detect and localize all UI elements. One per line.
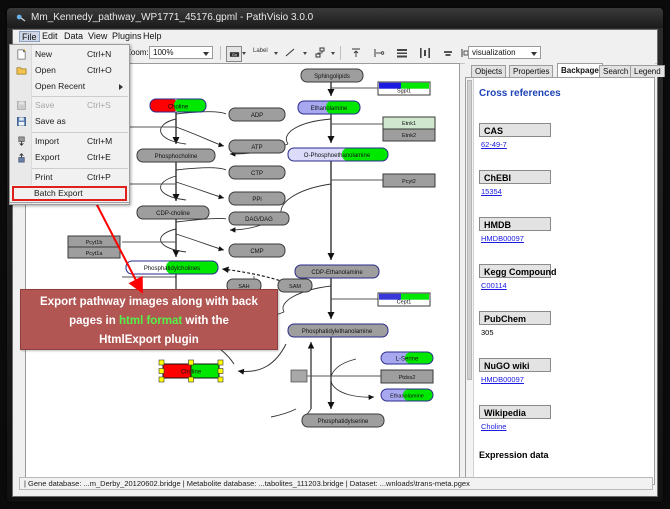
svg-text:Ethanolamine: Ethanolamine <box>311 106 348 112</box>
app-root: Mm_Kennedy_pathway_WP1771_45176.gpml - P… <box>0 0 670 509</box>
toolbar-separator-2 <box>340 46 341 60</box>
file-menu-item-import[interactable]: Import Ctrl+M <box>11 134 130 149</box>
svg-text:Pcyt1a: Pcyt1a <box>86 251 104 257</box>
tab-legend[interactable]: Legend <box>630 65 665 77</box>
svg-text:PPi: PPi <box>252 197 261 203</box>
xref-db-label-hmdb: HMDB <box>479 217 551 231</box>
annotation-line-3: HtmlExport plugin <box>21 331 277 350</box>
node-atp: ATP <box>229 140 285 153</box>
visualization-combobox[interactable]: visualization <box>468 46 541 59</box>
side-panel: Objects Properties Backpage Search Legen… <box>465 63 655 485</box>
svg-text:Choline: Choline <box>181 370 202 376</box>
svg-text:Phosphatidylcholines: Phosphatidylcholines <box>144 266 200 272</box>
file-menu-item-batch-export[interactable]: Batch Export <box>9 185 130 203</box>
save-as-icon <box>16 116 27 127</box>
chevron-down-icon-2 <box>531 52 537 56</box>
svg-text:Sphingolipids: Sphingolipids <box>314 74 350 80</box>
xref-wikipedia: Wikipedia Choline <box>479 405 551 431</box>
svg-text:DAG/DAG: DAG/DAG <box>245 217 273 223</box>
xref-db-label-kegg: Kegg Compound <box>479 264 551 278</box>
xref-value-chebi[interactable]: 15354 <box>479 187 551 196</box>
svg-text:O-Phosphoethanolamine: O-Phosphoethanolamine <box>304 153 371 159</box>
node-phosphatidylcholines: Phosphatidylcholines <box>126 261 218 274</box>
backpage-scrollbar[interactable] <box>466 78 474 484</box>
xref-db-label-chebi: ChEBI <box>479 170 551 184</box>
file-menu-label-batch-export: Batch Export <box>34 188 83 198</box>
svg-text:Etnk1: Etnk1 <box>402 121 416 127</box>
zoom-combobox[interactable]: 100% <box>149 46 213 59</box>
node-adp: ADP <box>229 108 285 121</box>
svg-text:ATP: ATP <box>251 145 262 151</box>
window-title: Mm_Kennedy_pathway_WP1771_45176.gpml - P… <box>31 8 313 28</box>
save-icon <box>16 100 27 111</box>
file-menu-accel-export: Ctrl+E <box>87 152 111 162</box>
pathvisio-icon <box>16 13 26 23</box>
svg-text:Ethanolamine: Ethanolamine <box>390 394 424 400</box>
svg-text:Pcyt2: Pcyt2 <box>402 179 416 185</box>
node-ctp: CTP <box>229 166 285 179</box>
annotation-line-2: pages in html format with the <box>21 312 277 331</box>
svg-text:Phosphatidylethanolamine: Phosphatidylethanolamine <box>302 329 373 335</box>
menu-help[interactable]: Help <box>140 31 165 42</box>
svg-text:Phosphocholine: Phosphocholine <box>155 154 198 160</box>
visualization-value: visualization <box>472 48 516 57</box>
xref-value-hmdb[interactable]: HMDB00097 <box>479 234 551 243</box>
file-menu-item-export[interactable]: Export Ctrl+E <box>11 150 130 165</box>
svg-text:Cept1: Cept1 <box>397 300 412 306</box>
chevron-down-icon <box>203 52 209 56</box>
xref-kegg: Kegg Compound C00114 <box>479 264 551 290</box>
svg-text:Etnk2: Etnk2 <box>402 133 416 139</box>
svg-text:Gn: Gn <box>232 52 237 56</box>
align-top-icon[interactable] <box>349 46 363 60</box>
file-menu-item-open[interactable]: Open Ctrl+O <box>11 63 130 78</box>
node-sphingolipids: Sphingolipids <box>301 69 363 82</box>
toolbar-separator <box>220 46 221 60</box>
node-ethanolamine-top: Ethanolamine <box>298 101 360 114</box>
file-menu-separator-2 <box>32 132 128 133</box>
file-menu-separator-1 <box>32 96 128 97</box>
stack-center-icon[interactable] <box>395 46 409 60</box>
xref-value-cas[interactable]: 62-49-7 <box>479 140 551 149</box>
same-width-icon[interactable] <box>441 46 455 60</box>
backpage-content: Cross references CAS 62-49-7 ChEBI 15354… <box>474 78 654 484</box>
tab-search[interactable]: Search <box>599 65 632 77</box>
gene-pcyt1b: Pcyt1b <box>68 236 120 247</box>
file-menu-label-new: New <box>35 49 52 59</box>
label-dropdown-icon[interactable] <box>274 52 278 55</box>
tab-backpage[interactable]: Backpage <box>557 63 603 77</box>
svg-text:Phosphatidylserine: Phosphatidylserine <box>318 419 369 425</box>
annotation-text: Export pathway images along with back pa… <box>21 290 277 350</box>
svg-text:Pcyt1b: Pcyt1b <box>86 240 103 246</box>
status-bar: | Gene database: ...m_Derby_20120602.bri… <box>19 477 653 490</box>
file-menu-dropdown[interactable]: New Ctrl+N Open Ctrl+O Open Recent Save … <box>9 44 130 205</box>
xref-db-label-wikipedia: Wikipedia <box>479 405 551 419</box>
gene-sgpl1: Sgpl1 <box>378 82 430 95</box>
node-sam: SAM <box>278 279 312 292</box>
xref-db-label-pubchem: PubChem <box>479 311 551 325</box>
file-menu-accel-import: Ctrl+M <box>87 136 112 146</box>
xref-value-nugo[interactable]: HMDB00097 <box>479 375 551 384</box>
menu-data[interactable]: Data <box>61 31 86 42</box>
svg-text:CDP-choline: CDP-choline <box>156 211 190 217</box>
interaction-icon[interactable] <box>313 46 327 60</box>
node-phosphocholine: Phosphocholine <box>137 149 215 162</box>
node-ppi: PPi <box>229 192 285 205</box>
annotation-line-2-a: pages in <box>69 315 119 327</box>
file-menu-accel-open: Ctrl+O <box>87 65 112 75</box>
file-menu-label-open-recent: Open Recent <box>35 81 85 91</box>
menu-view[interactable]: View <box>85 31 110 42</box>
gene-product-dropdown-icon[interactable] <box>242 52 246 55</box>
xref-value-wikipedia[interactable]: Choline <box>479 422 551 431</box>
node-choline-bottom-selected: Choline <box>159 360 223 382</box>
file-menu-accel-print: Ctrl+P <box>87 172 111 182</box>
tab-properties[interactable]: Properties <box>509 65 553 77</box>
distribute-icon[interactable] <box>418 46 432 60</box>
menu-file[interactable]: File <box>19 31 40 42</box>
xref-pubchem: PubChem 305 <box>479 311 551 337</box>
file-menu-label-export: Export <box>35 152 60 162</box>
svg-text:CDP-Ethanolamine: CDP-Ethanolamine <box>311 270 363 276</box>
xref-nugo: NuGO wiki HMDB00097 <box>479 358 551 384</box>
xref-db-label-nugo: NuGO wiki <box>479 358 551 372</box>
line-icon[interactable] <box>283 46 297 60</box>
node-dag: DAG/DAG <box>229 212 289 225</box>
svg-text:CMP: CMP <box>250 249 263 255</box>
node-l-serine: L-Serine <box>381 352 433 364</box>
node-o-phosphoethanolamine: O-Phosphoethanolamine <box>288 148 388 161</box>
svg-text:ADP: ADP <box>251 113 263 119</box>
file-menu-separator-3 <box>32 168 128 169</box>
file-menu-label-save: Save <box>35 100 54 110</box>
node-ethanolamine-bottom: Ethanolamine <box>381 389 433 401</box>
xref-value-kegg[interactable]: C00114 <box>479 281 551 290</box>
tab-objects[interactable]: Objects <box>471 65 506 77</box>
svg-text:L-Serine: L-Serine <box>396 357 419 363</box>
file-menu-accel-save: Ctrl+S <box>87 100 111 110</box>
node-cmp: CMP <box>229 244 285 257</box>
xref-db-label-cas: CAS <box>479 123 551 137</box>
annotation-banner: Export pathway images along with back pa… <box>20 289 278 350</box>
node-cdp-choline: CDP-choline <box>137 206 209 219</box>
file-menu-label-import: Import <box>35 136 59 146</box>
submenu-chevron-icon <box>119 84 123 90</box>
node-cdp-ethanolamine: CDP-Ethanolamine <box>295 265 379 278</box>
expression-data-heading: Expression data <box>479 450 549 460</box>
gene-ptdss2: Ptdss2 <box>381 370 433 383</box>
open-folder-icon <box>16 65 27 76</box>
zoom-value: 100% <box>153 48 173 57</box>
file-menu-label-open: Open <box>35 65 56 75</box>
menu-edit[interactable]: Edit <box>39 31 61 42</box>
backpage-panel: Cross references CAS 62-49-7 ChEBI 15354… <box>465 77 655 485</box>
xref-cas: CAS 62-49-7 <box>479 123 551 149</box>
node-phosphatidylethanolamine: Phosphatidylethanolamine <box>288 324 388 337</box>
panel-tabstrip[interactable]: Objects Properties Backpage Search Legen… <box>465 63 655 77</box>
svg-text:CTP: CTP <box>251 171 263 177</box>
gene-pcyt1a: Pcyt1a <box>68 247 120 258</box>
file-menu-item-save-as[interactable]: Save as <box>11 114 130 129</box>
annotation-line-2-b: with the <box>182 315 229 327</box>
svg-text:Choline: Choline <box>168 105 189 111</box>
xref-chebi: ChEBI 15354 <box>479 170 551 196</box>
interaction-dropdown-icon[interactable] <box>331 52 335 55</box>
import-icon <box>16 136 27 147</box>
file-menu-item-save: Save Ctrl+S <box>11 98 130 113</box>
gene-etnk1: Etnk1 <box>383 117 435 129</box>
cross-references-heading: Cross references <box>479 88 561 99</box>
xref-value-pubchem: 305 <box>479 328 551 337</box>
node-phosphatidylserine: Phosphatidylserine <box>302 414 384 427</box>
gene-etnk2: Etnk2 <box>383 129 435 141</box>
new-file-icon <box>16 49 27 60</box>
svg-text:Ptdss2: Ptdss2 <box>399 375 416 381</box>
file-menu-item-open-recent[interactable]: Open Recent <box>11 79 130 94</box>
label-tool-label[interactable]: Label <box>253 48 268 54</box>
align-left-icon[interactable] <box>372 46 386 60</box>
file-menu-item-new[interactable]: New Ctrl+N <box>11 47 130 62</box>
file-menu-item-print[interactable]: Print Ctrl+P <box>11 170 130 185</box>
gene-cept1: Cept1 <box>378 293 430 306</box>
export-icon <box>16 152 27 163</box>
gene-pcyt2: Pcyt2 <box>383 174 435 187</box>
file-menu-label-save-as: Save as <box>35 116 66 126</box>
gene-product-icon[interactable]: Gn <box>226 46 242 62</box>
title-bar: Mm_Kennedy_pathway_WP1771_45176.gpml - P… <box>7 8 663 28</box>
svg-text:SAM: SAM <box>289 284 301 290</box>
line-dropdown-icon[interactable] <box>303 52 307 55</box>
annotation-highlight: html format <box>119 315 182 327</box>
file-menu-label-print: Print <box>35 172 52 182</box>
svg-text:Sgpl1: Sgpl1 <box>397 89 411 95</box>
menu-bar[interactable]: File Edit Data View Plugins Help <box>13 30 657 44</box>
node-choline-top: Choline <box>150 99 206 112</box>
xref-hmdb: HMDB HMDB00097 <box>479 217 551 243</box>
scrollbar-thumb[interactable] <box>467 80 472 380</box>
annotation-line-1: Export pathway images along with back <box>21 293 277 312</box>
file-menu-accel-new: Ctrl+N <box>87 49 111 59</box>
